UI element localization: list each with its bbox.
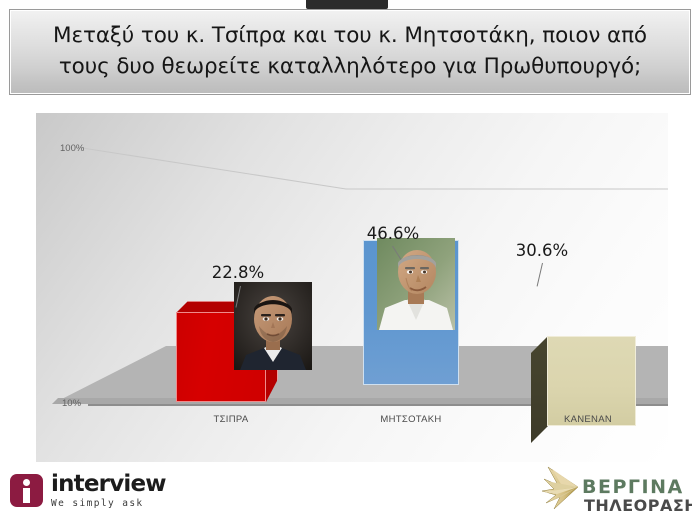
tsipras-photo — [234, 282, 312, 370]
interview-i-icon — [10, 474, 43, 507]
gridline-100 — [76, 147, 668, 192]
page-title: Μεταξύ του κ. Τσίπρα και του κ. Μητσοτάκ… — [30, 21, 670, 82]
bar-kanenan-side — [531, 336, 548, 443]
interview-wordmark: interview We simply ask — [51, 473, 166, 509]
y-tick-10: 10% — [62, 398, 81, 409]
value-label-mitsotaki: 46.6% — [367, 224, 419, 243]
value-label-tsipra: 22.8% — [212, 263, 264, 282]
i-dot — [23, 479, 30, 486]
vergina-logo: ΒΕΡΓΙΝΑ ΤΗΛΕΟΡΑΣΗ — [542, 465, 692, 517]
chart-panel: 100% 10% — [36, 113, 668, 462]
svg-text:ΤΗΛΕΟΡΑΣΗ: ΤΗΛΕΟΡΑΣΗ — [584, 496, 692, 515]
poll-chart-slide: Μεταξύ του κ. Τσίπρα και του κ. Μητσοτάκ… — [0, 0, 700, 519]
category-label-tsipra: ΤΣΙΠΡΑ — [214, 414, 249, 425]
category-label-kanenan: ΚΑΝΕΝΑΝ — [564, 414, 612, 425]
value-label-kanenan: 30.6% — [516, 241, 568, 260]
y-tick-100: 100% — [60, 143, 84, 154]
leader-line-kanenan — [537, 263, 543, 287]
interview-tagline: We simply ask — [51, 499, 166, 509]
vergina-sun-icon — [542, 467, 578, 509]
mitsotakis-photo — [377, 238, 455, 330]
title-line-1: Μεταξύ του κ. Τσίπρα και του κ. Μητσοτάκ… — [30, 21, 670, 52]
interview-name: interview — [51, 473, 166, 496]
bar-kanenan[interactable] — [531, 336, 636, 443]
question-title-banner: Μεταξύ του κ. Τσίπρα και του κ. Μητσοτάκ… — [9, 9, 691, 95]
interview-logo: interview We simply ask — [10, 473, 166, 509]
top-tab-marker — [306, 0, 388, 9]
category-label-mitsotaki: ΜΗΤΣΟΤΑΚΗ — [380, 414, 441, 425]
svg-text:ΒΕΡΓΙΝΑ: ΒΕΡΓΙΝΑ — [582, 476, 684, 498]
title-line-2: τους δυο θεωρείτε καταλληλότερο για Πρωθ… — [30, 52, 670, 83]
footer-bar: interview We simply ask — [0, 462, 700, 519]
i-stem — [23, 488, 30, 503]
bar-kanenan-front — [547, 336, 636, 426]
